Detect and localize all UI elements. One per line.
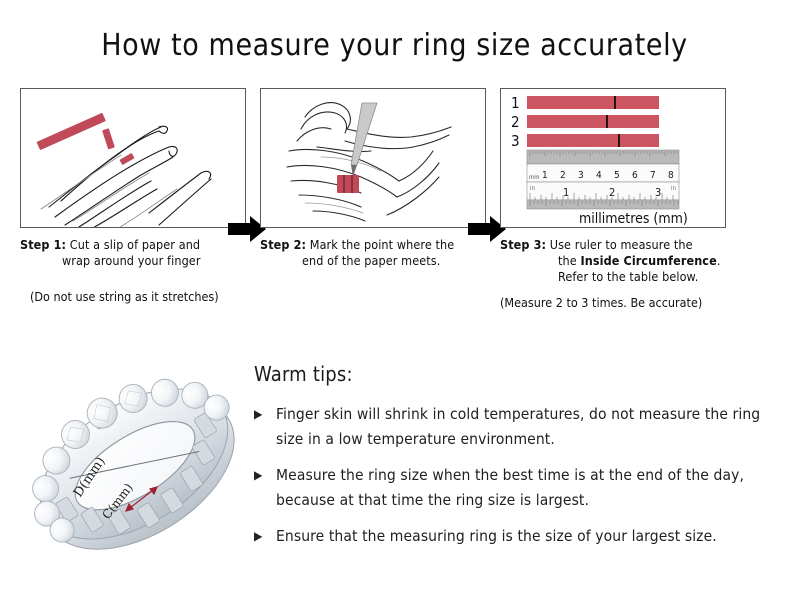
step-1-note: (Do not use string as it stretches): [20, 289, 248, 305]
tip-text-2: Measure the ring size when the best time…: [276, 466, 744, 509]
strip-number-2: 2: [511, 113, 520, 131]
step-3-column: 1 2 3: [500, 88, 728, 311]
svg-text:in: in: [530, 185, 535, 192]
step-1-panel: [20, 88, 246, 228]
svg-text:3: 3: [578, 170, 584, 181]
measured-strips: [527, 96, 659, 147]
page-title: How to measure your ring size accurately: [0, 28, 789, 63]
eternity-ring-photo: D(mm) C(mm): [18, 352, 250, 578]
svg-text:7: 7: [650, 170, 656, 181]
svg-text:mm: mm: [529, 174, 540, 181]
ruler-shape: 1 2 3 4 5 6 7 8 mm 1 2 3: [527, 150, 679, 209]
ruler-unit-label: millimetres (mm): [579, 211, 688, 227]
ruler-with-measured-strips-illustration: 1 2 3: [501, 89, 726, 228]
svg-text:4: 4: [596, 170, 602, 181]
step-3-line2-prefix: the: [558, 253, 580, 268]
step-3-panel: 1 2 3: [500, 88, 726, 228]
warm-tips-heading: Warm tips:: [254, 362, 774, 386]
step-3-caption: Step 3: Use ruler to measure the the Ins…: [500, 237, 728, 285]
tip-item-2: ▶ Measure the ring size when the best ti…: [254, 463, 774, 513]
tip-text-1: Finger skin will shrink in cold temperat…: [276, 405, 760, 448]
svg-text:in: in: [671, 185, 676, 192]
step-3-inside-circumference: Inside Circumference: [580, 253, 716, 268]
step-3-note: (Measure 2 to 3 times. Be accurate): [500, 295, 728, 311]
svg-text:2: 2: [560, 170, 566, 181]
ring-figure: D(mm) C(mm): [18, 352, 250, 578]
step-2-panel: [260, 88, 486, 228]
svg-text:6: 6: [632, 170, 638, 181]
step-3-line3: Refer to the table below.: [500, 269, 728, 285]
step-2-label: Step 2:: [260, 237, 306, 252]
step-2-line2: end of the paper meets.: [260, 253, 488, 269]
step-2-column: Step 2: Mark the point where the end of …: [260, 88, 488, 269]
tip-item-3: ▶ Ensure that the measuring ring is the …: [254, 524, 774, 549]
bullet-arrow-icon: ▶: [254, 463, 262, 488]
svg-text:5: 5: [614, 170, 620, 181]
hand-with-paper-strip-illustration: [21, 89, 246, 228]
step-3-line1: Use ruler to measure the: [550, 237, 693, 252]
strip-number-3: 3: [511, 132, 520, 150]
steps-row: Step 1: Cut a slip of paper and wrap aro…: [0, 88, 789, 338]
step-2-line1: Mark the point where the: [310, 237, 455, 252]
warm-tips-section: Warm tips: ▶ Finger skin will shrink in …: [254, 362, 774, 560]
strip-number-1: 1: [511, 94, 520, 112]
paper-strip-shape: [337, 175, 359, 193]
step-2-caption: Step 2: Mark the point where the end of …: [260, 237, 488, 269]
bullet-arrow-icon: ▶: [254, 402, 262, 427]
step-1-column: Step 1: Cut a slip of paper and wrap aro…: [20, 88, 248, 305]
step-1-line2: wrap around your finger: [20, 253, 248, 269]
step-3-line2: the Inside Circumference.: [500, 253, 728, 269]
step-1-label: Step 1:: [20, 237, 66, 252]
step-1-caption: Step 1: Cut a slip of paper and wrap aro…: [20, 237, 248, 269]
hands-marking-paper-with-pen-illustration: [261, 89, 486, 228]
svg-text:1: 1: [542, 170, 548, 181]
step-1-line1: Cut a slip of paper and: [70, 237, 200, 252]
tip-item-1: ▶ Finger skin will shrink in cold temper…: [254, 402, 774, 452]
paper-strip-shape: [36, 113, 134, 165]
step-3-line2-suffix: .: [717, 253, 721, 268]
svg-text:1: 1: [563, 186, 569, 199]
svg-text:8: 8: [668, 170, 674, 181]
tip-text-3: Ensure that the measuring ring is the si…: [276, 527, 717, 545]
step-3-label: Step 3:: [500, 237, 546, 252]
bullet-arrow-icon: ▶: [254, 524, 262, 549]
